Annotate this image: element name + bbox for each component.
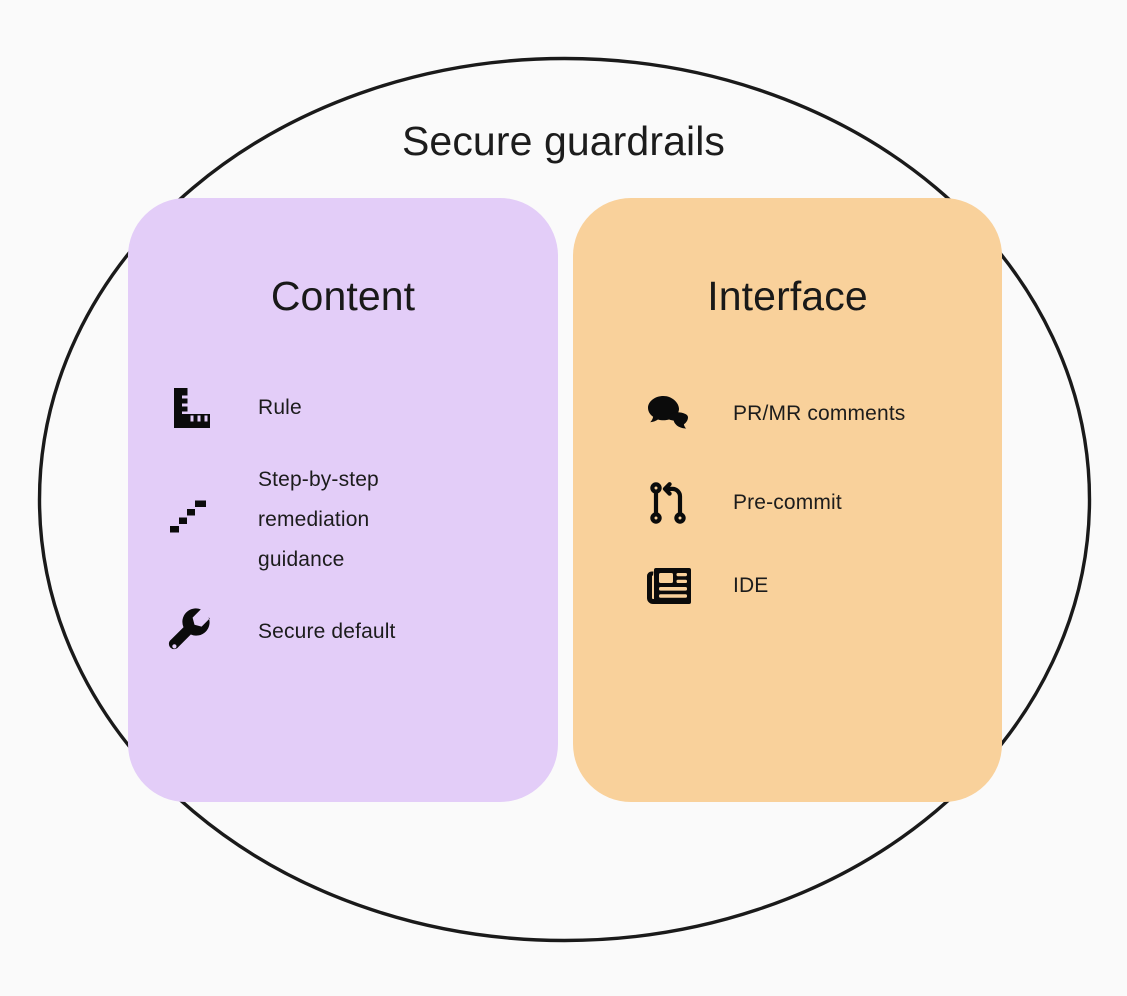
list-item-secure-default: Secure default xyxy=(128,594,558,670)
speech-bubbles-icon xyxy=(643,390,695,438)
code-window-icon xyxy=(643,562,695,610)
group-title-content: Content xyxy=(128,270,558,322)
boundary-title: Secure guardrails xyxy=(0,113,1127,169)
ruler-icon xyxy=(164,384,216,432)
list-item-label: Step-by-step remediation guidance xyxy=(258,460,379,580)
secure-guardrails-diagram: Secure guardrails Content Rule xyxy=(0,0,1127,996)
git-branch-icon xyxy=(643,479,695,527)
list-item-label: IDE xyxy=(733,566,768,606)
group-items-interface: PR/MR comments Pre-commit xyxy=(573,370,1002,624)
list-item-remediation: Step-by-step remediation guidance xyxy=(128,446,558,594)
list-item-pr-mr-comments: PR/MR comments xyxy=(573,370,1002,458)
group-card-content: Content Rule xyxy=(128,198,558,802)
group-items-content: Rule Step-by-step remediation guidance xyxy=(128,370,558,670)
stairs-icon xyxy=(164,496,216,544)
list-item-label: Rule xyxy=(258,388,302,428)
list-item-pre-commit: Pre-commit xyxy=(573,458,1002,548)
group-title-interface: Interface xyxy=(573,270,1002,322)
list-item-label: PR/MR comments xyxy=(733,394,905,434)
list-item-label: Pre-commit xyxy=(733,483,842,523)
wrench-icon xyxy=(164,608,216,656)
list-item-rule: Rule xyxy=(128,370,558,446)
group-card-interface: Interface PR/MR comments xyxy=(573,198,1002,802)
list-item-label: Secure default xyxy=(258,612,396,652)
list-item-ide: IDE xyxy=(573,548,1002,624)
